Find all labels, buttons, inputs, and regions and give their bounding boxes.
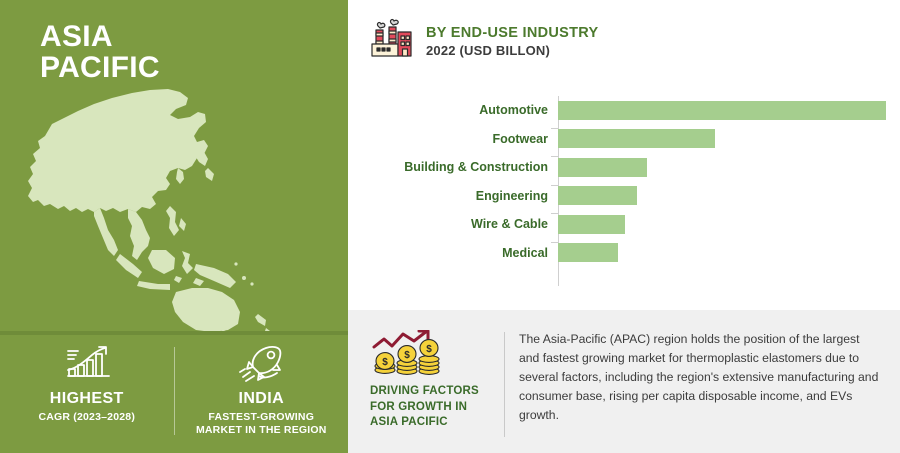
axis-tick xyxy=(551,156,558,157)
chart-panel: BY END-USE INDUSTRY 2022 (USD BILLON) Au… xyxy=(348,0,900,310)
page-title: ASIA PACIFIC xyxy=(40,22,160,83)
axis-tick xyxy=(551,213,558,214)
driving-factors-left: $ $ $ xyxy=(370,330,498,431)
bar-fill xyxy=(558,186,637,205)
growth-bar-chart-arrow-icon xyxy=(59,343,115,385)
driving-factors-panel: $ $ $ xyxy=(348,310,900,453)
bar-label: Medical xyxy=(348,246,558,260)
bar-row: Automotive xyxy=(348,96,900,125)
bar-label: Building & Construction xyxy=(348,160,558,174)
infographic-root: ASIA PACIFIC xyxy=(0,0,900,453)
chart-subtitle: 2022 (USD BILLON) xyxy=(426,43,598,58)
bar-fill xyxy=(558,215,625,234)
factory-icon xyxy=(368,18,414,65)
bar-fill xyxy=(558,243,618,262)
bar-fill xyxy=(558,101,886,120)
driving-factors-description: The Asia-Pacific (APAC) region holds the… xyxy=(519,330,882,425)
bar-fill xyxy=(558,158,647,177)
bar-label: Engineering xyxy=(348,189,558,203)
bar-track xyxy=(558,182,900,211)
driving-factors-caption: DRIVING FACTORS FOR GROWTH IN ASIA PACIF… xyxy=(370,384,498,431)
bar-label: Footwear xyxy=(348,132,558,146)
bar-rows: AutomotiveFootwearBuilding & Constructio… xyxy=(348,96,900,267)
coins-growth-icon: $ $ $ xyxy=(370,330,498,376)
chart-title: BY END-USE INDUSTRY xyxy=(426,25,598,42)
bar-track xyxy=(558,210,900,239)
bar-label: Wire & Cable xyxy=(348,217,558,231)
rocket-icon xyxy=(233,343,289,385)
driving-factors-caption-line3: ASIA PACIFIC xyxy=(370,415,498,431)
bar-row: Medical xyxy=(348,239,900,268)
region-title-line1: ASIA xyxy=(40,20,113,53)
axis-tick xyxy=(551,185,558,186)
stat-india-label-line1: FASTEST-GROWING xyxy=(208,411,314,423)
factors-divider xyxy=(504,332,505,437)
axis-tick xyxy=(551,128,558,129)
bar-row: Building & Construction xyxy=(348,153,900,182)
chart-header: BY END-USE INDUSTRY 2022 (USD BILLON) xyxy=(368,18,598,65)
asia-pacific-map xyxy=(0,78,348,332)
driving-factors-caption-line2: FOR GROWTH IN xyxy=(370,400,498,416)
bar-track xyxy=(558,96,900,125)
bar-row: Engineering xyxy=(348,182,900,211)
stat-cagr-value: HIGHEST xyxy=(50,390,124,408)
stat-india-label: FASTEST-GROWING MARKET IN THE REGION xyxy=(196,411,327,437)
stat-cagr: HIGHEST CAGR (2023–2028) xyxy=(0,335,174,424)
svg-text:$: $ xyxy=(382,357,388,368)
svg-text:$: $ xyxy=(426,344,432,355)
svg-text:$: $ xyxy=(404,350,410,361)
bar-chart: AutomotiveFootwearBuilding & Constructio… xyxy=(348,96,900,286)
stat-india-label-line2: MARKET IN THE REGION xyxy=(196,424,327,436)
bar-track xyxy=(558,125,900,154)
bar-fill xyxy=(558,129,715,148)
driving-factors-caption-line1: DRIVING FACTORS xyxy=(370,384,498,400)
region-panel: ASIA PACIFIC xyxy=(0,0,348,453)
bar-label: Automotive xyxy=(348,103,558,117)
stat-india-value: INDIA xyxy=(238,390,284,408)
stat-cagr-label: CAGR (2023–2028) xyxy=(38,411,135,424)
bar-row: Footwear xyxy=(348,125,900,154)
bar-track xyxy=(558,153,900,182)
axis-tick xyxy=(551,242,558,243)
bar-row: Wire & Cable xyxy=(348,210,900,239)
bar-track xyxy=(558,239,900,268)
stat-india: INDIA FASTEST-GROWING MARKET IN THE REGI… xyxy=(175,335,349,437)
region-stats: HIGHEST CAGR (2023–2028) xyxy=(0,335,348,453)
